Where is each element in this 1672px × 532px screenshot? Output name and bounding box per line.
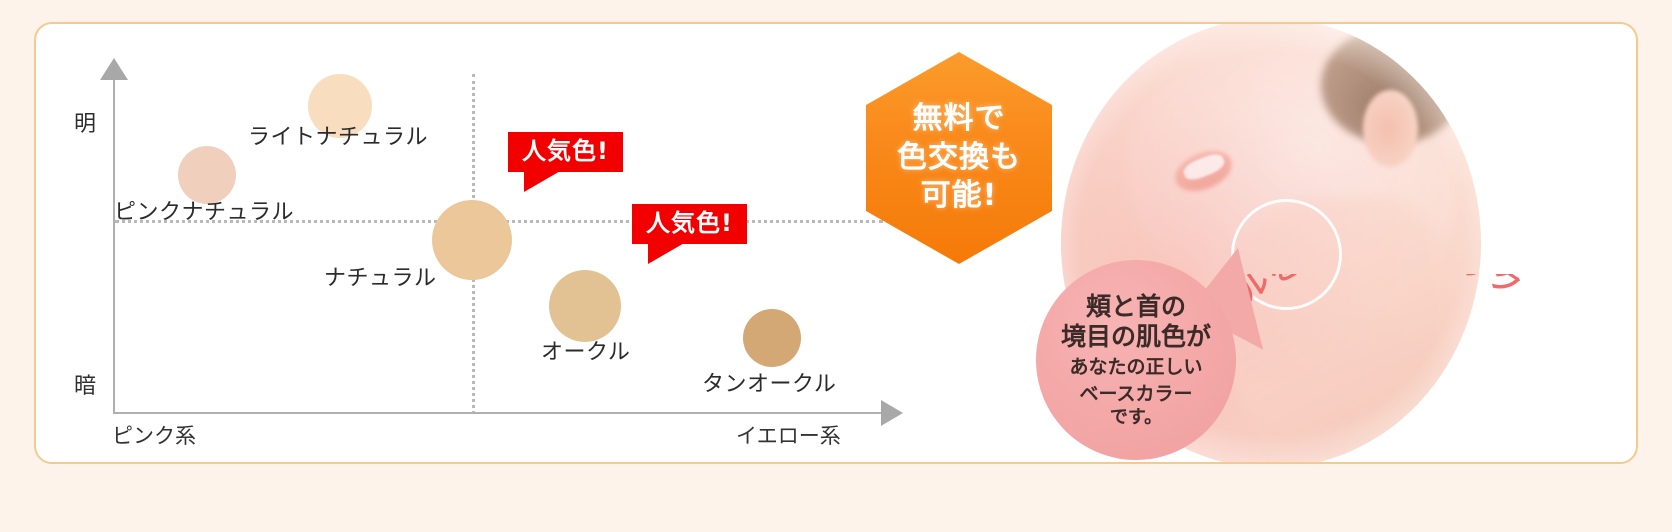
y-axis-line: [113, 74, 115, 414]
swatch-label-light-natural: ライトナチュラル: [248, 119, 428, 151]
x-axis-label-yellow: イエロー系: [736, 420, 841, 450]
y-axis-arrow-icon: [100, 58, 128, 80]
info-card: 明 暗 ピンク系 イエロー系 ライトナチュラル ピンクナチュラル ナチュラル オ…: [34, 22, 1638, 464]
swatch-tan-ochre[interactable]: [743, 309, 801, 367]
swatch-label-ochre: オークル: [541, 334, 630, 366]
swatch-ochre[interactable]: [549, 270, 621, 342]
pink-bubble-line-1: 頬と首の: [1086, 292, 1186, 323]
x-axis-line: [113, 412, 883, 414]
swatch-natural[interactable]: [432, 200, 512, 280]
popular-badge-label: 人気色!: [522, 137, 609, 165]
x-axis-arrow-icon: [881, 400, 903, 426]
swatch-label-pink-natural: ピンクナチュラル: [114, 194, 294, 226]
swatch-label-tan-ochre: タンオークル: [702, 366, 836, 398]
hexagon-line-2: 色交換も: [897, 139, 1021, 177]
pink-bubble-line-2: 境目の肌色が: [1061, 322, 1211, 353]
popular-badge-tail-icon: [524, 170, 562, 192]
y-axis-label-bright: 明: [74, 106, 96, 138]
pink-bubble-line-5: です。: [1110, 407, 1162, 429]
shade-scatter-chart: 明 暗 ピンク系 イエロー系 ライトナチュラル ピンクナチュラル ナチュラル オ…: [36, 24, 936, 462]
popular-badge-tail-icon: [648, 242, 686, 264]
popular-badge-ochre: 人気色!: [632, 204, 747, 244]
x-axis-label-pink: ピンク系: [112, 420, 196, 450]
screenshot-root: 明 暗 ピンク系 イエロー系 ライトナチュラル ピンクナチュラル ナチュラル オ…: [0, 0, 1672, 532]
hexagon-line-3: 可能!: [921, 177, 998, 215]
popular-badge-label: 人気色!: [646, 209, 733, 237]
pink-bubble-line-3: あなたの正しい: [1069, 356, 1202, 380]
base-color-pink-bubble: 頬と首の 境目の肌色が あなたの正しい ベースカラー です。: [1036, 260, 1236, 460]
pink-bubble-line-4: ベースカラー: [1079, 383, 1192, 407]
hexagon-line-1: 無料で: [913, 100, 1006, 138]
swatch-label-natural: ナチュラル: [324, 260, 437, 292]
popular-badge-natural: 人気色!: [508, 132, 623, 172]
y-axis-label-dark: 暗: [74, 368, 96, 400]
